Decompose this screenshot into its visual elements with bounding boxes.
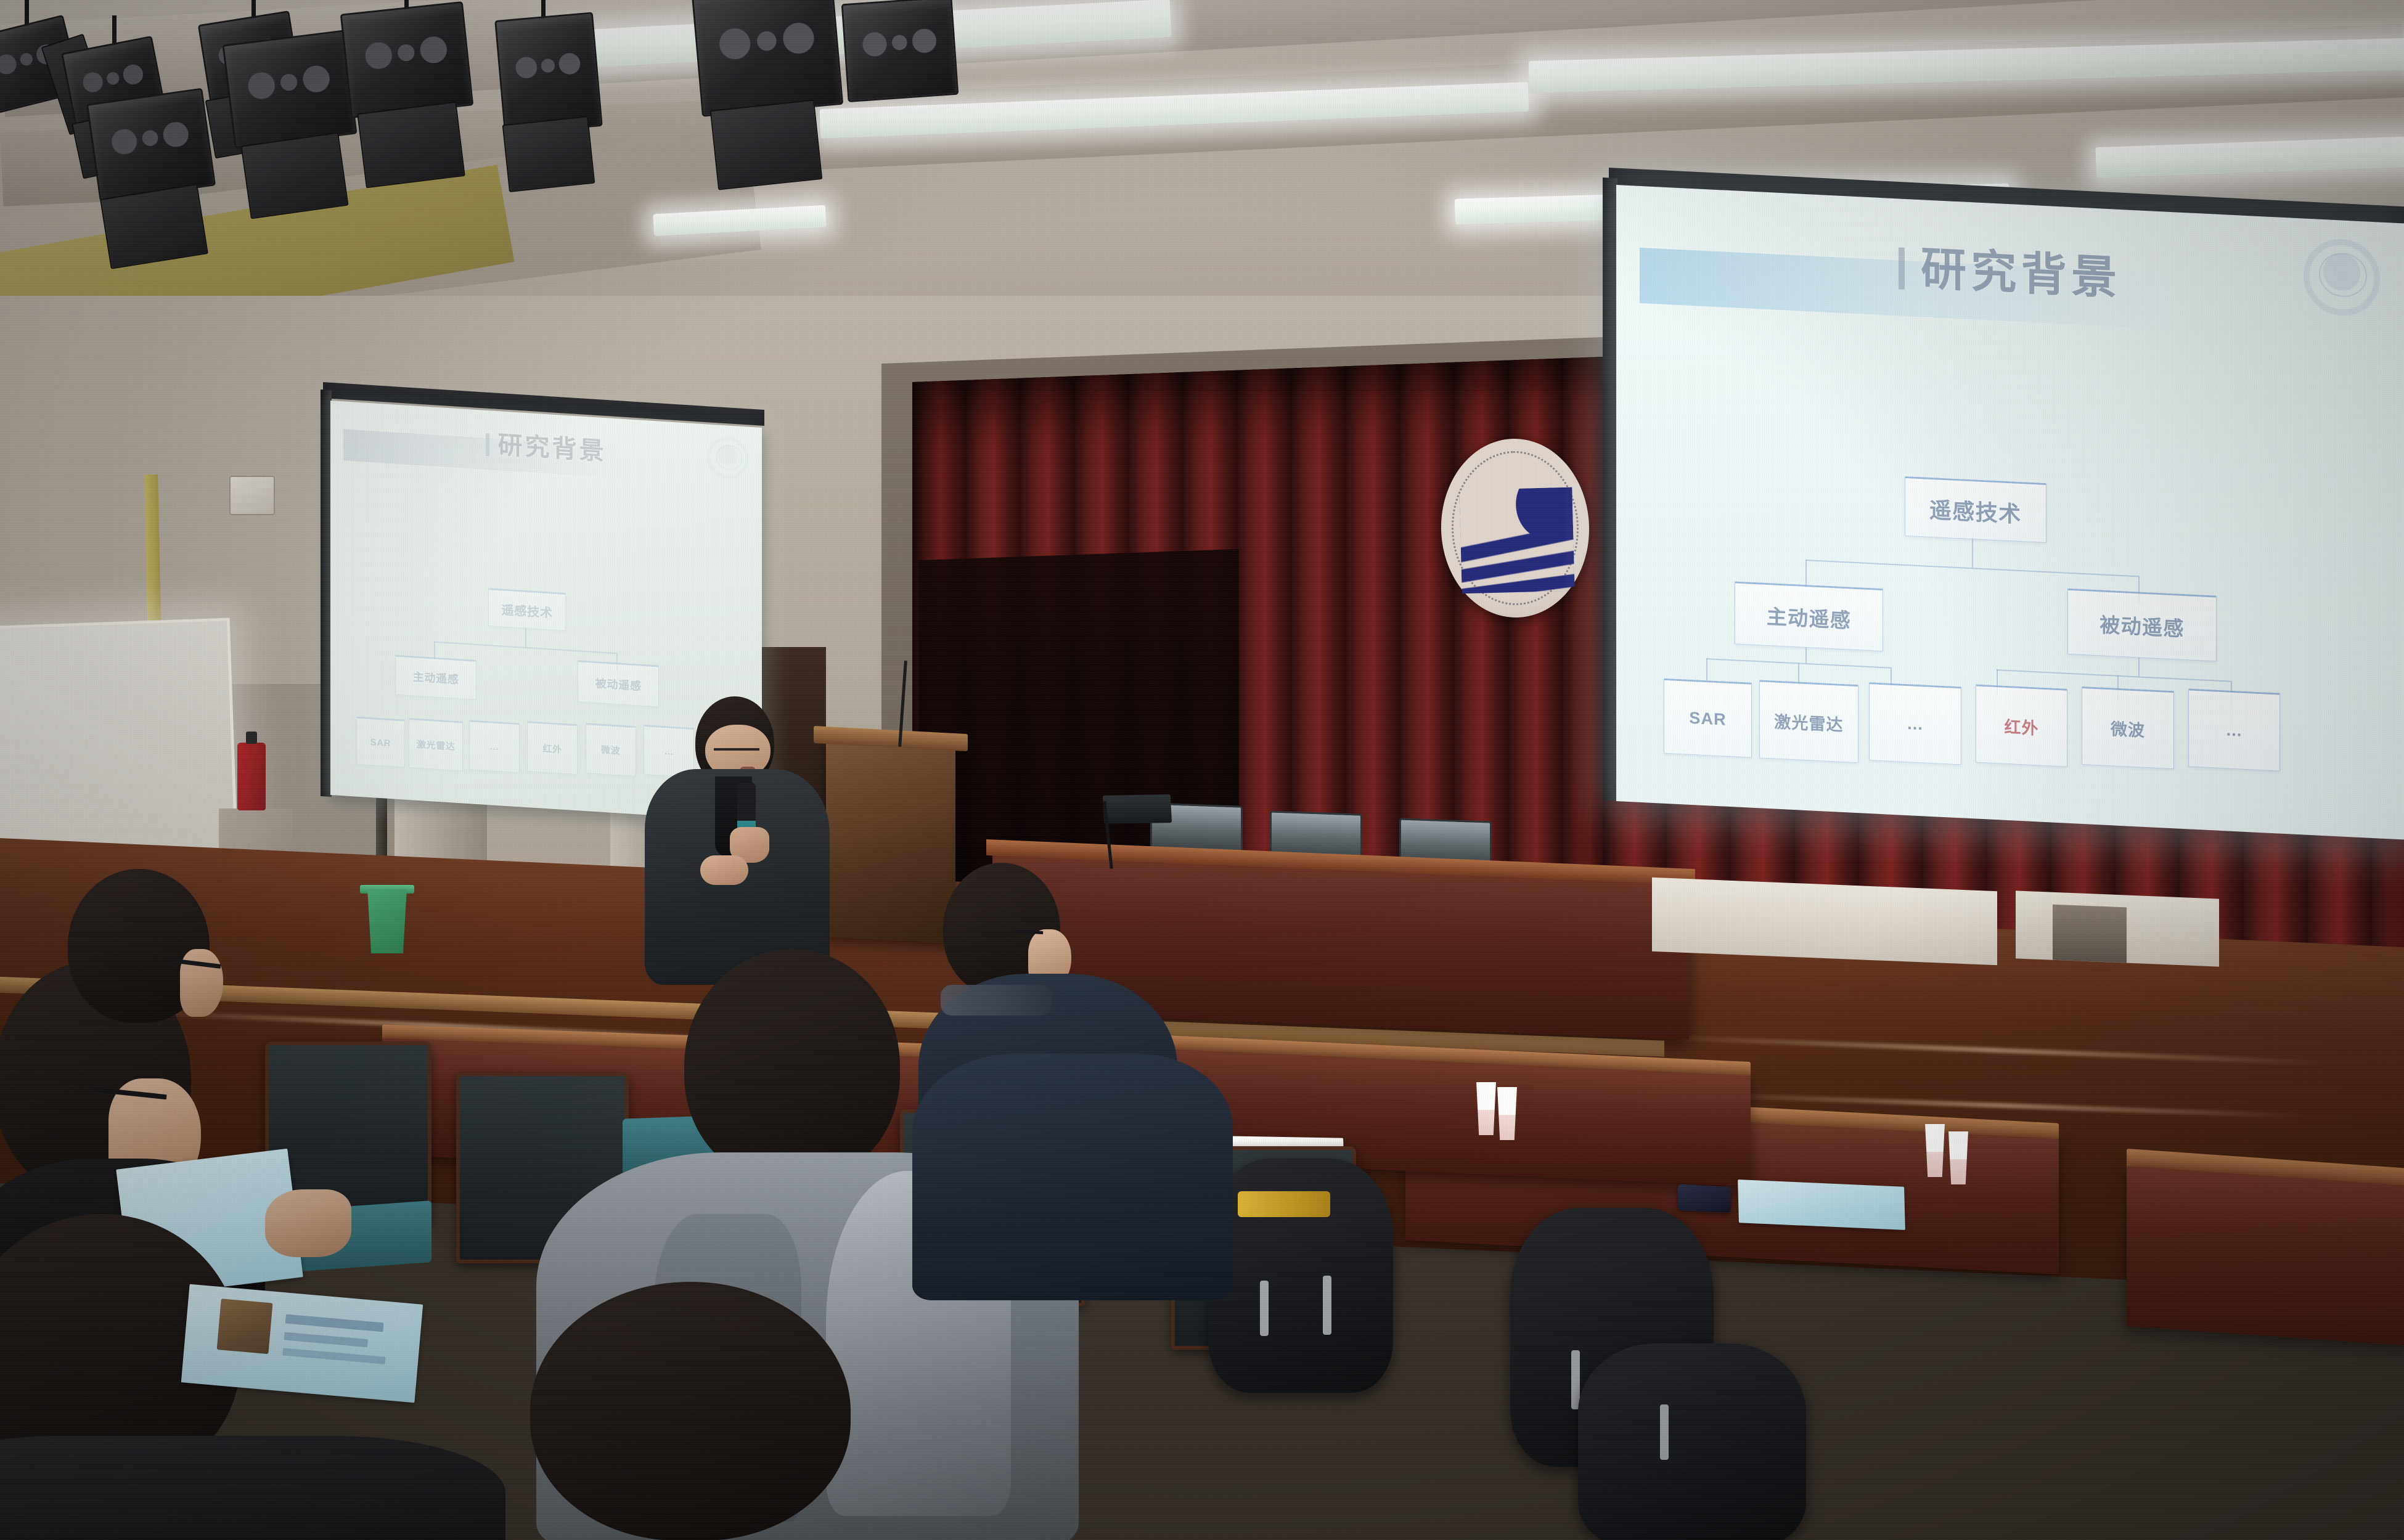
diagram-node-level3: 激光雷达: [1759, 680, 1858, 763]
diagram-node-root: 遥感技术: [488, 588, 566, 631]
handout-text-line: [284, 1332, 368, 1347]
slide-canvas: 研究背景 遥感技术 主动遥感: [1616, 185, 2404, 840]
diagram-edge: [1972, 536, 1973, 568]
attendee-head: [684, 949, 900, 1183]
diagram-edge: [1706, 658, 1707, 680]
diagram-node-level3: 微波: [2082, 686, 2174, 770]
diagram-node-level2: 主动遥感: [395, 654, 476, 700]
attendee-jacket: [912, 1054, 1233, 1300]
stage-skirting: [1652, 878, 1997, 965]
slide-title-bar-accent: [486, 433, 489, 456]
attendee-left-back: [25, 869, 210, 1066]
screen-frame-side: [1603, 177, 1617, 801]
diagram-node-level3: SAR: [1664, 678, 1752, 758]
diagram-edge: [1805, 560, 1807, 588]
smartphone[interactable]: [1678, 1184, 1731, 1213]
attendee-front-right: [530, 1282, 999, 1540]
slide-hierarchy-diagram: 遥感技术 主动遥感 被动遥感 SAR 激光雷达 … 红外 微波 …: [1664, 458, 2373, 807]
handout-text-line: [282, 1348, 386, 1364]
diagram-node-level3: 微波: [586, 723, 636, 776]
attendee-head: [530, 1282, 851, 1540]
presenter-glasses-icon: [714, 748, 759, 757]
radiator: [2053, 905, 2127, 963]
diagram-edge: [525, 627, 526, 647]
diagram-node-level2: 主动遥感: [1735, 581, 1884, 651]
diagram-node-level3-highlight: 红外: [1976, 684, 2068, 767]
attendee-face: [180, 949, 223, 1017]
handout-text-line: [285, 1314, 383, 1332]
diagram-node-level2: 被动遥感: [2067, 588, 2217, 661]
diagram-edge: [1805, 648, 1807, 664]
backpack-zipper: [1323, 1276, 1331, 1335]
main-projection-screen[interactable]: 研究背景 遥感技术 主动遥感: [1616, 185, 2404, 840]
attendee-leather-jacket: [0, 1436, 505, 1540]
audience-desk: [2127, 1166, 2404, 1346]
backpack-logo-strip: [1238, 1191, 1330, 1217]
laptop[interactable]: [1103, 794, 1172, 824]
diagram-node-level3: …: [1869, 682, 1961, 765]
diagram-node-level3: …: [2188, 688, 2281, 772]
presenter-hand: [700, 855, 748, 885]
blue-handout: [181, 1284, 423, 1403]
diagram-node-level3: …: [469, 720, 520, 773]
backpack-zipper: [1260, 1281, 1269, 1336]
backpack-zipper: [1660, 1404, 1669, 1460]
diagram-node-level3: 激光雷达: [409, 718, 463, 772]
diagram-edge: [2138, 658, 2140, 677]
diagram-node-level3: SAR: [356, 717, 405, 768]
trash-bin: [364, 889, 411, 953]
fire-extinguisher: [237, 743, 266, 810]
backpack: [1208, 1159, 1393, 1393]
handout-photo: [217, 1298, 273, 1354]
attendee-center-glasses: [912, 881, 1233, 1251]
blue-handout: [1738, 1179, 1905, 1230]
emblem-wave-icon: [1460, 487, 1575, 594]
slide-title-text: 研究背景: [498, 431, 607, 465]
slide-title-bar-accent: [1899, 248, 1905, 290]
lecture-hall-photo: 研究背景 遥感技术 主动遥感: [0, 0, 2404, 1540]
diagram-edge: [434, 641, 435, 659]
slide-title-text: 研究背景: [1921, 243, 2122, 304]
backpack: [1578, 1343, 1806, 1540]
diagram-node-level3: 红外: [527, 721, 578, 775]
diagram-edge: [1997, 669, 2231, 682]
wall-speaker-box: [229, 476, 275, 515]
presenter: [641, 696, 844, 974]
diagram-node-root: 遥感技术: [1905, 476, 2046, 543]
